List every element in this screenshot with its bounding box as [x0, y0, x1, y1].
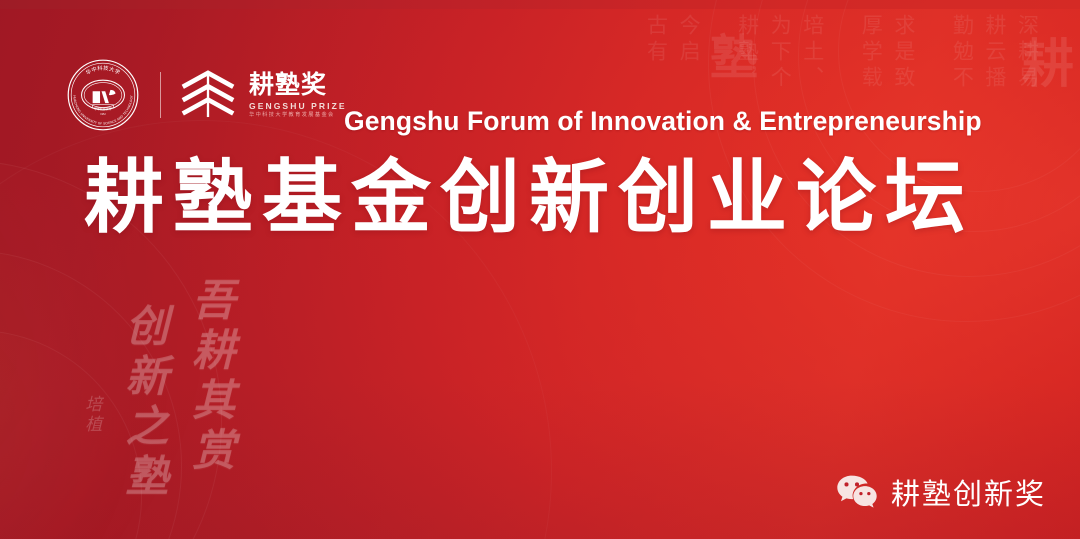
gengshu-prize-name-cn: 耕塾奖	[249, 72, 347, 97]
wechat-icon	[836, 474, 878, 510]
logo-bar: 华中科技大学 1952 华中科技大学 HUAZHONG UNIVERSITY O…	[66, 58, 347, 132]
gengshu-prize-text: 耕塾奖 GENGSHU PRIZE 华中科技大学教育发展基金会	[249, 72, 347, 119]
logo-divider	[160, 72, 161, 118]
gengshu-prize-logo: 耕塾奖 GENGSHU PRIZE 华中科技大学教育发展基金会	[179, 66, 347, 124]
university-seal-icon: 华中科技大学 1952 华中科技大学 HUAZHONG UNIVERSITY O…	[66, 58, 140, 132]
gengshu-prize-name-en: GENGSHU PRIZE	[249, 102, 347, 111]
gengshu-prize-subtitle: 华中科技大学教育发展基金会	[249, 113, 347, 118]
wechat-account[interactable]: 耕塾创新奖	[836, 471, 1046, 513]
svg-text:1952: 1952	[100, 113, 106, 116]
poster-banner: 今启 古有 培土、 为下个 耕塾， 求是致 厚学载 深耕易 耕云播 勤勉不 塾 …	[0, 0, 1080, 539]
svg-text:华中科技大学: 华中科技大学	[84, 64, 122, 77]
watermark-big-character: 耕	[1022, 22, 1074, 97]
title-chinese: 耕塾基金创新创业论坛	[84, 133, 974, 249]
watermark-big-character: 塾	[710, 18, 758, 88]
gengshu-mark-icon	[179, 66, 237, 124]
wechat-account-name: 耕塾创新奖	[891, 471, 1046, 513]
svg-text:华中科技大学: 华中科技大学	[94, 107, 112, 111]
